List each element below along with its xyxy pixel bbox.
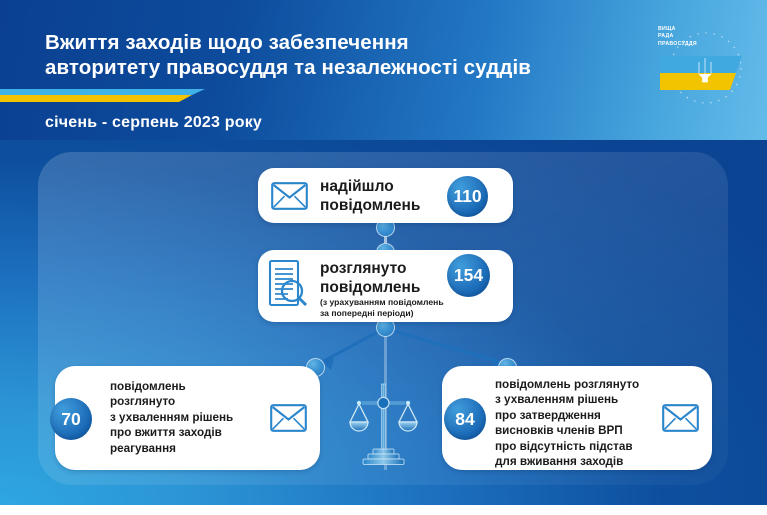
envelope-icon — [271, 182, 308, 215]
card-outcome-left-label: повідомлень розглянуто з ухваленням ріше… — [110, 379, 233, 456]
card-outcome-right-label: повідомлень розглянуто з ухваленням ріше… — [495, 377, 639, 469]
card-received-label: надійшло повідомлень — [320, 177, 420, 215]
envelope-icon — [662, 404, 699, 437]
card-reviewed-note: (з урахуванням повідомлень за попередні … — [320, 297, 444, 319]
envelope-icon — [270, 404, 307, 437]
count-badge-outcome-right: 84 — [444, 398, 486, 440]
count-badge-outcome-left: 70 — [50, 398, 92, 440]
count-badge-received: 110 — [447, 176, 488, 217]
document-magnifier-icon — [268, 259, 310, 316]
infographic-root: Вжиття заходів щодо забезпечення авторит… — [0, 0, 767, 515]
card-reviewed-label: розглянуто повідомлень — [320, 259, 420, 297]
scales-of-justice-icon — [349, 378, 419, 473]
count-badge-reviewed: 154 — [447, 254, 490, 297]
